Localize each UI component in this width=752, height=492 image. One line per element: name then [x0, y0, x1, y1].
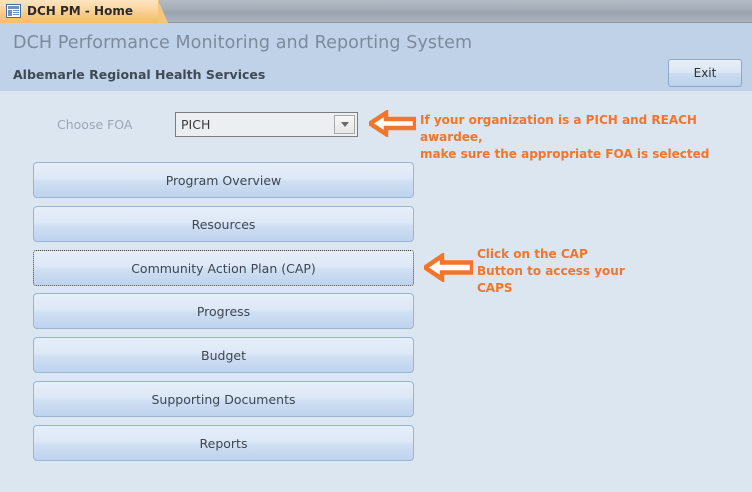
arrow-pointing-to-cap-button — [424, 253, 473, 282]
foa-combobox[interactable]: PICH — [175, 112, 358, 137]
foa-annotation-text: If your organization is a PICH and REACH… — [420, 112, 752, 163]
nav-button-budget[interactable]: Budget — [33, 337, 414, 373]
form-window-icon — [6, 4, 21, 18]
nav-button-program-overview[interactable]: Program Overview — [33, 162, 414, 198]
tab-label: DCH PM - Home — [27, 4, 133, 18]
nav-button-community-action-plan[interactable]: Community Action Plan (CAP) — [33, 250, 414, 286]
foa-selected-value: PICH — [176, 113, 334, 136]
choose-foa-label: Choose FOA — [57, 117, 132, 132]
page-title: DCH Performance Monitoring and Reporting… — [13, 33, 472, 53]
nav-button-reports[interactable]: Reports — [33, 425, 414, 461]
exit-button[interactable]: Exit — [668, 59, 742, 87]
nav-button-supporting-documents[interactable]: Supporting Documents — [33, 381, 414, 417]
header-band: DCH Performance Monitoring and Reporting… — [0, 23, 752, 91]
nav-button-resources[interactable]: Resources — [33, 206, 414, 242]
arrow-pointing-to-foa — [369, 110, 416, 137]
chevron-down-icon[interactable] — [334, 115, 355, 134]
tab-strip: DCH PM - Home — [0, 0, 752, 23]
organization-name: Albemarle Regional Health Services — [13, 67, 265, 82]
cap-annotation-text: Click on the CAP Button to access your C… — [477, 246, 625, 297]
application-window: DCH PM - Home DCH Performance Monitoring… — [0, 0, 752, 492]
nav-button-progress[interactable]: Progress — [33, 293, 414, 329]
tab-dch-pm-home[interactable]: DCH PM - Home — [0, 0, 160, 23]
